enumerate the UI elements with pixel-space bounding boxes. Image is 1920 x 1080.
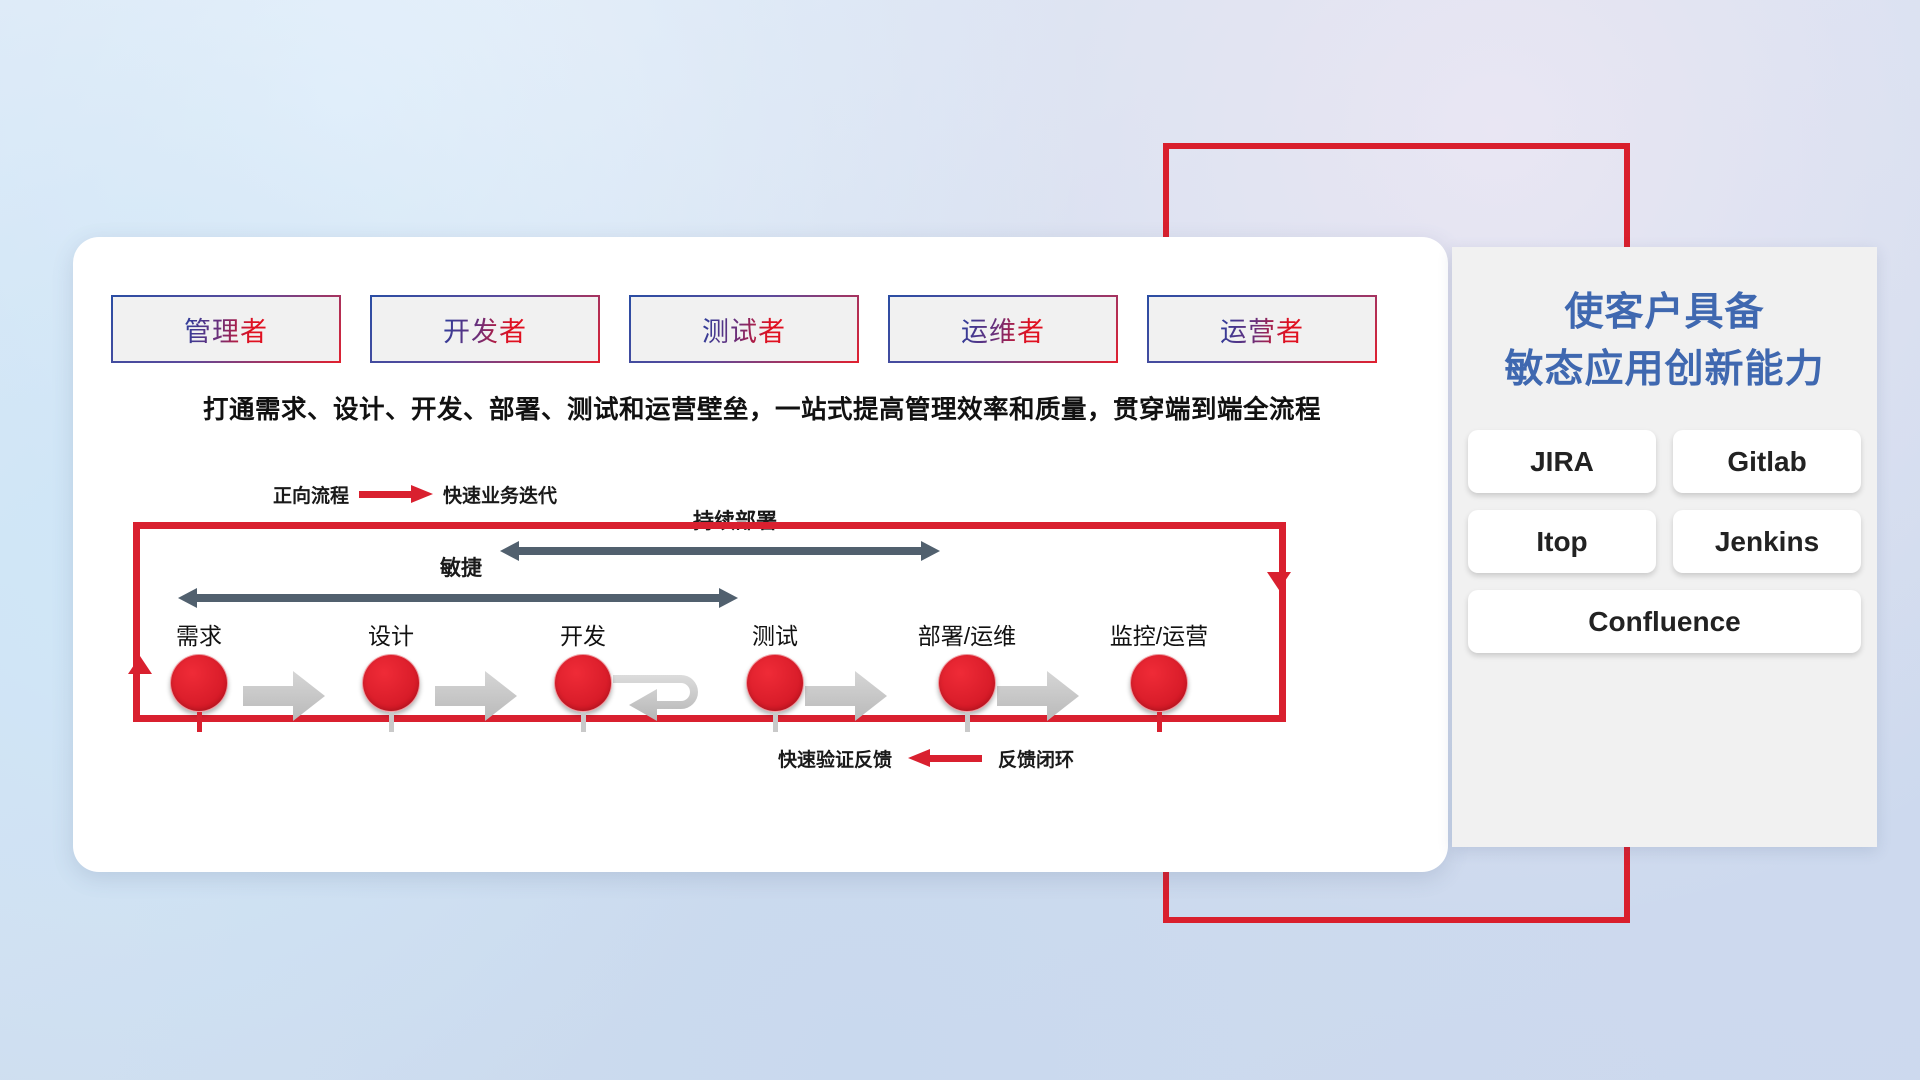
stage-node-monitor-operations[interactable]: 监控/运营 [1099,617,1219,732]
tool-chip-jenkins[interactable]: Jenkins [1673,510,1861,573]
stage-stem [389,712,394,732]
forward-flow-legend: 正向流程 快速业务迭代 [273,481,557,508]
outcome-panel: 使客户具备 敏态应用创新能力 JIRA Gitlab Itop Jenkins … [1452,247,1877,847]
stage-label: 开发 [523,617,643,651]
red-arrow-left-icon [908,752,982,765]
stage-node-development[interactable]: 开发 [523,617,643,732]
stage-node-deploy-ops[interactable]: 部署/运维 [907,617,1027,732]
role-chip-manager[interactable]: 管理者 [111,295,341,363]
tool-list: JIRA Gitlab Itop Jenkins Confluence [1452,430,1877,653]
stage-node-design[interactable]: 设计 [331,617,451,732]
tool-chip-itop[interactable]: Itop [1468,510,1656,573]
feedback-legend: 快速验证反馈 反馈闭环 [778,745,1074,772]
role-chip-label: 测试者 [702,310,786,349]
loop-arrowhead-down-icon [1267,572,1291,590]
role-chip-tester[interactable]: 测试者 [629,295,859,363]
stage-stem [197,712,202,732]
role-chip-business-operator[interactable]: 运营者 [1147,295,1377,363]
tagline-text: 打通需求、设计、开发、部署、测试和运营壁垒，一站式提高管理效率和质量，贯穿端到端… [117,389,1407,426]
role-chip-label: 开发者 [443,310,527,349]
feedback-from-label: 快速验证反馈 [778,745,892,772]
panel-headline-line1: 使客户具备 [1564,291,1764,334]
panel-headline: 使客户具备 敏态应用创新能力 [1452,285,1877,398]
stage-dot [554,654,612,712]
panel-headline-line2: 敏态应用创新能力 [1504,348,1824,391]
stage-label: 需求 [139,617,259,651]
stage-stem [773,712,778,732]
role-chip-label: 运营者 [1220,310,1304,349]
stage-dot [362,654,420,712]
stage-dot [170,654,228,712]
stage-row: 需求 设计 开发 测试 部署/运维 [113,617,1413,737]
stage-label: 测试 [715,617,835,651]
role-chip-developer[interactable]: 开发者 [370,295,600,363]
stage-node-testing[interactable]: 测试 [715,617,835,732]
role-chip-operator[interactable]: 运维者 [888,295,1118,363]
tool-chip-jira[interactable]: JIRA [1468,430,1656,493]
stage-stem [581,712,586,732]
stage-label: 设计 [331,617,451,651]
role-chip-row: 管理者 开发者 测试者 运维者 运营者 [111,295,1377,363]
stage-dot [746,654,804,712]
forward-flow-to-label: 快速业务迭代 [443,481,557,508]
role-chip-label: 运维者 [961,310,1045,349]
stage-node-requirement[interactable]: 需求 [139,617,259,732]
stage-label: 部署/运维 [907,617,1027,651]
stage-stem [965,712,970,732]
tool-chip-gitlab[interactable]: Gitlab [1673,430,1861,493]
forward-flow-from-label: 正向流程 [273,481,349,508]
stage-dot [1130,654,1188,712]
feedback-to-label: 反馈闭环 [998,745,1074,772]
tool-chip-confluence[interactable]: Confluence [1468,590,1861,653]
role-chip-label: 管理者 [184,310,268,349]
stage-dot [938,654,996,712]
red-arrow-right-icon [359,488,433,501]
diagram-canvas: 管理者 开发者 测试者 运维者 运营者 打通需求、设计、开发、部署、测试和运营壁… [0,0,1920,1080]
stage-stem [1157,712,1162,732]
stage-label: 监控/运营 [1099,617,1219,651]
main-card: 管理者 开发者 测试者 运维者 运营者 打通需求、设计、开发、部署、测试和运营壁… [73,237,1448,872]
